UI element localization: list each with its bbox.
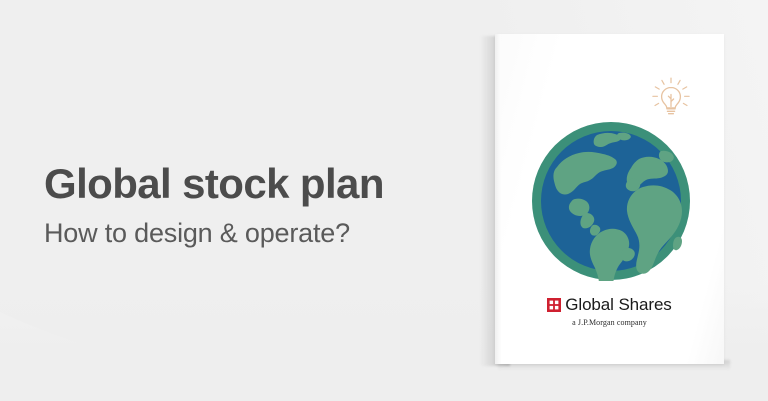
headline-block: Global stock plan How to design & operat… bbox=[44, 160, 464, 249]
logo-row: Global Shares bbox=[495, 296, 724, 314]
global-shares-grid-mark-icon bbox=[547, 298, 561, 312]
global-shares-logo: Global Shares a J.P.Morgan company bbox=[495, 296, 724, 327]
brochure-cover-card[interactable]: Global Shares a J.P.Morgan company bbox=[495, 34, 724, 364]
logo-tagline: a J.P.Morgan company bbox=[495, 318, 724, 327]
promo-banner: Global stock plan How to design & operat… bbox=[0, 0, 768, 401]
logo-wordmark: Global Shares bbox=[565, 296, 671, 314]
globe-illustration bbox=[531, 121, 691, 281]
lightbulb-icon bbox=[650, 74, 692, 120]
page-title: Global stock plan bbox=[44, 160, 464, 208]
page-subtitle: How to design & operate? bbox=[44, 217, 464, 249]
